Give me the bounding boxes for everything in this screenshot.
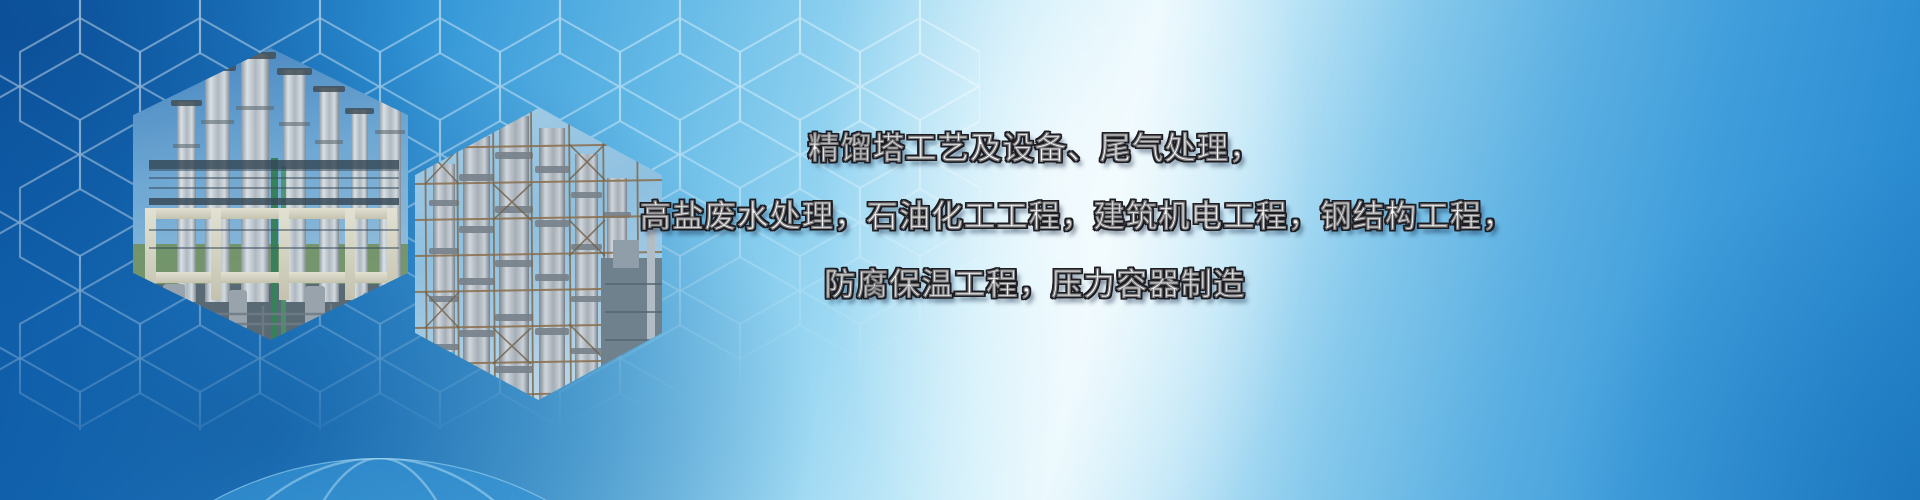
headline-line-3: 防腐保温工程，压力容器制造 bbox=[640, 260, 1430, 310]
headline-line-1: 精馏塔工艺及设备、尾气处理， bbox=[640, 124, 1430, 174]
promo-banner: 精馏塔工艺及设备、尾气处理， 高盐废水处理，石油化工工程，建筑机电工程，钢结构工… bbox=[0, 0, 1920, 500]
headline-block: 精馏塔工艺及设备、尾气处理， 高盐废水处理，石油化工工程，建筑机电工程，钢结构工… bbox=[640, 124, 1430, 311]
headline-line-2: 高盐废水处理，石油化工工程，建筑机电工程，钢结构工程， bbox=[640, 192, 1430, 242]
world-globe bbox=[0, 430, 760, 500]
